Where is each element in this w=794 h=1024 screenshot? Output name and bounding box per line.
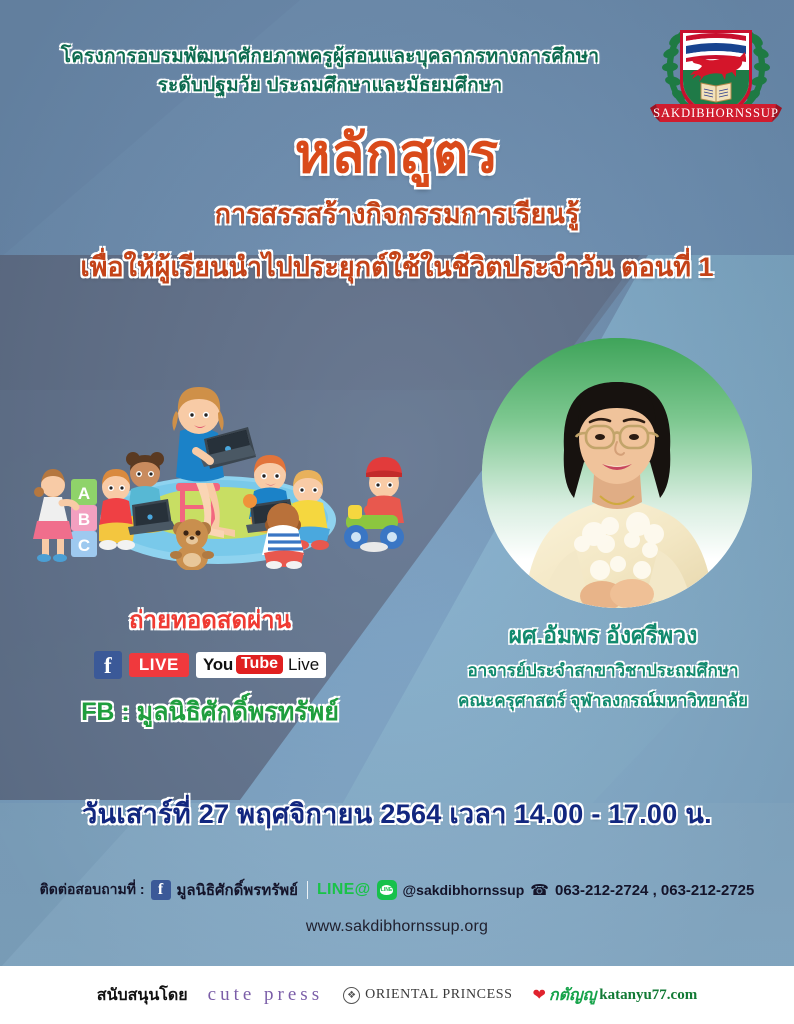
sponsor-footer-bar: สนับสนุนโดย cute press ❖ ORIENTAL PRINCE… xyxy=(0,966,794,1024)
crest-banner-text: SAKDIBHORNSSUP xyxy=(653,106,779,120)
facebook-icon[interactable]: f xyxy=(94,651,122,679)
header-line-1: โครงการอบรมพัฒนาศักยภาพครูผู้สอนและบุคลา… xyxy=(0,42,660,71)
svg-text:B: B xyxy=(78,510,90,529)
header-line-2: ระดับปฐมวัย ประถมศึกษาและมัธยมศึกษา xyxy=(0,71,660,100)
svg-text:A: A xyxy=(78,484,90,503)
title-subtitle-1: การสรรสร้างกิจกรรมการเรียนรู้ xyxy=(0,192,794,235)
broadcast-block: ถ่ายทอดสดผ่าน f LIVE You Tube Live FB : … xyxy=(40,600,380,732)
facebook-icon-small[interactable]: f xyxy=(151,880,171,900)
youtube-you-text: You xyxy=(203,656,233,673)
contact-divider xyxy=(307,881,308,899)
broadcast-heading: ถ่ายทอดสดผ่าน xyxy=(40,600,380,639)
abc-blocks-icon: A B C xyxy=(71,479,97,557)
speaker-role-line-1: อาจารย์ประจำสาขาวิชาประถมศึกษา xyxy=(438,658,768,684)
header-text-block: โครงการอบรมพัฒนาศักยภาพครูผู้สอนและบุคลา… xyxy=(0,42,660,101)
sponsor-logo-katanyu: ❤ กตัญญู katanyu77.com xyxy=(533,983,698,1008)
sponsor-logo-oriental-princess: ❖ ORIENTAL PRINCESS xyxy=(343,987,512,1004)
speaker-portrait-photo xyxy=(482,338,752,608)
contact-row: ติดต่อสอบถามที่ : f มูลนิธิศักดิ์พรทรัพย… xyxy=(0,878,794,902)
oriental-princess-emblem-icon: ❖ xyxy=(343,987,360,1004)
page-title: หลักสูตร xyxy=(0,126,794,183)
phone-icon: ☎ xyxy=(530,881,549,899)
svg-text:C: C xyxy=(78,536,90,555)
website-url[interactable]: www.sakdibhornssup.org xyxy=(0,918,794,936)
event-datetime: วันเสาร์ที่ 27 พฤศจิกายน 2564 เวลา 14.00… xyxy=(0,792,794,835)
line-icon[interactable]: LINE xyxy=(377,880,397,900)
contact-line-id[interactable]: @sakdibhornssup xyxy=(403,882,525,898)
poster-canvas: โครงการอบรมพัฒนาศักยภาพครูผู้สอนและบุคลา… xyxy=(0,0,794,1024)
katanyu-domain-text: katanyu77.com xyxy=(599,987,697,1004)
contact-label: ติดต่อสอบถามที่ : xyxy=(40,879,145,901)
title-block: หลักสูตร การสรรสร้างกิจกรรมการเรียนรู้ เ… xyxy=(0,126,794,288)
facebook-page-name[interactable]: FB : มูลนิธิศักดิ์พรทรัพย์ xyxy=(40,692,380,732)
teacher-and-children-with-laptops-illustration: A B C xyxy=(28,355,448,570)
contact-phone-numbers: 063-212-2724 , 063-212-2725 xyxy=(555,882,754,899)
facebook-live-badge[interactable]: LIVE xyxy=(129,653,189,677)
oriental-princess-text: ORIENTAL PRINCESS xyxy=(365,987,512,1003)
youtube-tube-text: Tube xyxy=(236,655,283,674)
speaker-name: ผศ.อัมพร อังศรีพวง xyxy=(438,618,768,654)
speaker-block: ผศ.อัมพร อังศรีพวง อาจารย์ประจำสาขาวิชาป… xyxy=(438,618,768,713)
speaker-role-line-2: คณะครุศาสตร์ จุฬาลงกรณ์มหาวิทยาลัย xyxy=(438,688,768,714)
youtube-live-text: Live xyxy=(288,656,319,673)
broadcast-logos-row: f LIVE You Tube Live xyxy=(40,651,380,679)
schedule-block: วันเสาร์ที่ 27 พฤศจิกายน 2564 เวลา 14.00… xyxy=(0,792,794,835)
youtube-live-logo[interactable]: You Tube Live xyxy=(196,652,326,678)
line-at-label: LINE@ xyxy=(317,881,371,899)
title-subtitle-2: เพื่อให้ผู้เรียนนำไปประยุกต์ใช้ในชีวิตปร… xyxy=(0,245,794,288)
heart-icon: ❤ xyxy=(533,985,546,1005)
sakdibhornssup-crest-logo: SAKDIBHORNSSUP xyxy=(646,8,786,138)
sponsor-logo-cutepress: cute press xyxy=(208,984,323,1006)
contact-facebook-name[interactable]: มูลนิธิศักดิ์พรทรัพย์ xyxy=(177,878,298,902)
sponsor-label: สนับสนุนโดย xyxy=(97,983,188,1008)
katanyu-thai-text: กตัญญู xyxy=(549,983,596,1008)
